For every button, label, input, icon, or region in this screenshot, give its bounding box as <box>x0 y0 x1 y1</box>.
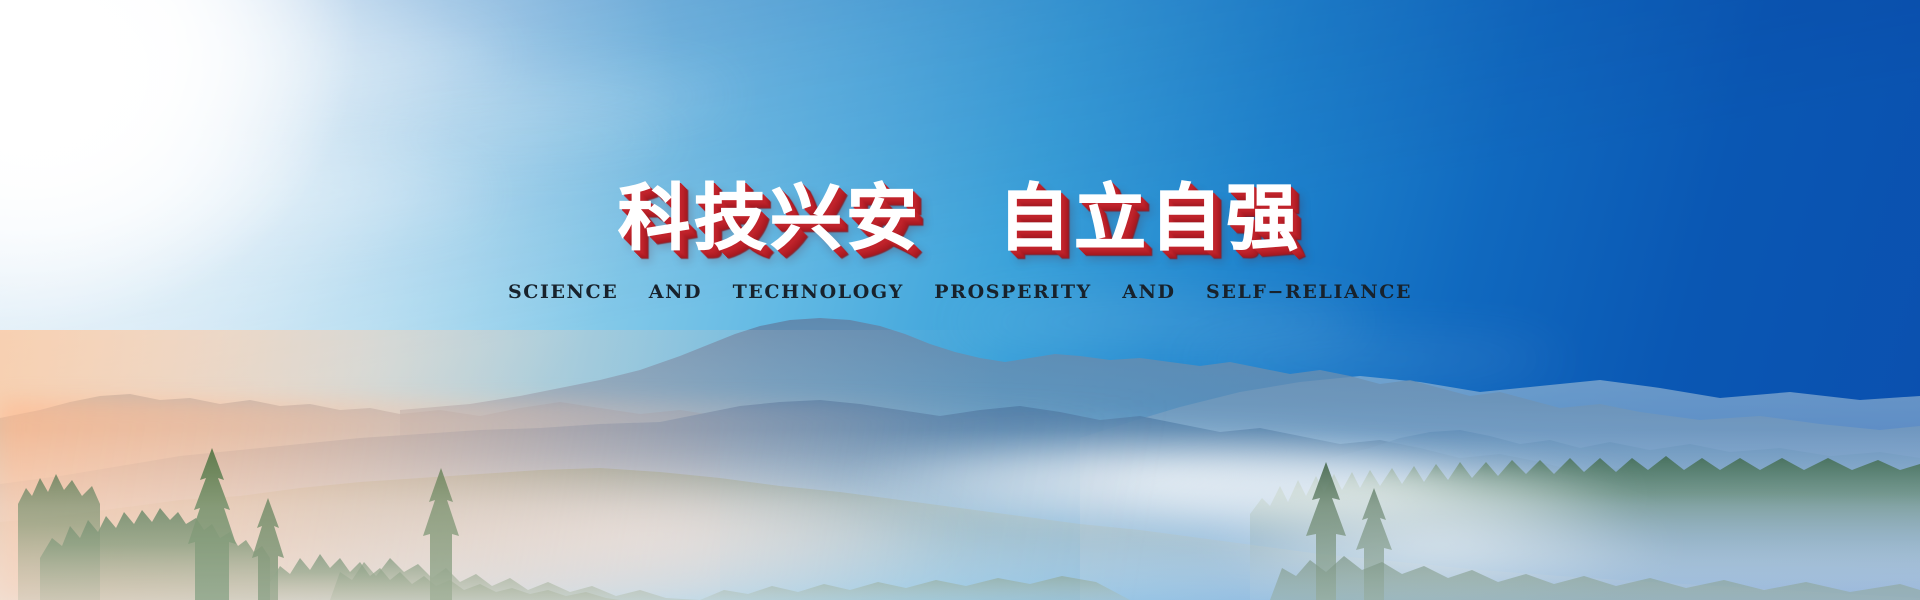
bottom-fog-fade <box>0 430 1920 600</box>
page-subtitle: SCIENCE AND TECHNOLOGY PROSPERITY AND SE… <box>508 281 1412 303</box>
hero-banner: 科技兴安 自立自强 SCIENCE AND TECHNOLOGY PROSPER… <box>0 0 1920 600</box>
banner-title-wrap: 科技兴安 自立自强 <box>0 182 1920 254</box>
banner-subtitle-wrap: SCIENCE AND TECHNOLOGY PROSPERITY AND SE… <box>0 281 1920 303</box>
page-title: 科技兴安 自立自强 <box>618 182 1302 254</box>
